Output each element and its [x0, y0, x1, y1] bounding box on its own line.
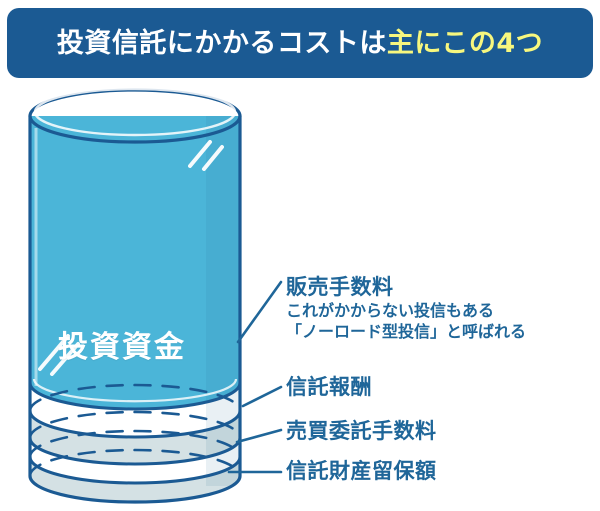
callout-1-sub-line2: 「ノーロード型投信」と呼ばれる — [286, 322, 526, 342]
callout-1-sub-line1: これがかからない投信もある — [286, 301, 526, 321]
header-title: 投資信託にかかるコストは主にこの4つ — [57, 30, 543, 57]
callout-shintaku-hoshu: 信託報酬 — [286, 376, 372, 400]
callout-baibai-itaku-tesuryo: 売買委託手数料 — [286, 420, 437, 444]
callout-3-title: 売買委託手数料 — [286, 420, 437, 444]
header-banner: 投資信託にかかるコストは主にこの4つ — [7, 8, 593, 78]
jar-label-investment-funds: 投資資金 — [58, 333, 186, 363]
infographic-canvas: 投資信託にかかるコストは主にこの4つ — [0, 0, 600, 511]
callout-shintaku-zaisan-ryuhogaku: 信託財産留保額 — [286, 460, 437, 484]
header-title-accent: 主にこの4つ — [387, 28, 543, 59]
layered-cylinder-illustration: 投資資金 — [0, 86, 270, 511]
callout-4-title: 信託財産留保額 — [286, 460, 437, 484]
callout-2-title: 信託報酬 — [286, 376, 372, 400]
header-title-main: 投資信託にかかるコストは — [57, 28, 387, 59]
callout-hanbai-tesuryo: 販売手数料 これがかからない投信もある 「ノーロード型投信」と呼ばれる — [286, 276, 526, 342]
callout-1-title: 販売手数料 — [286, 276, 526, 300]
